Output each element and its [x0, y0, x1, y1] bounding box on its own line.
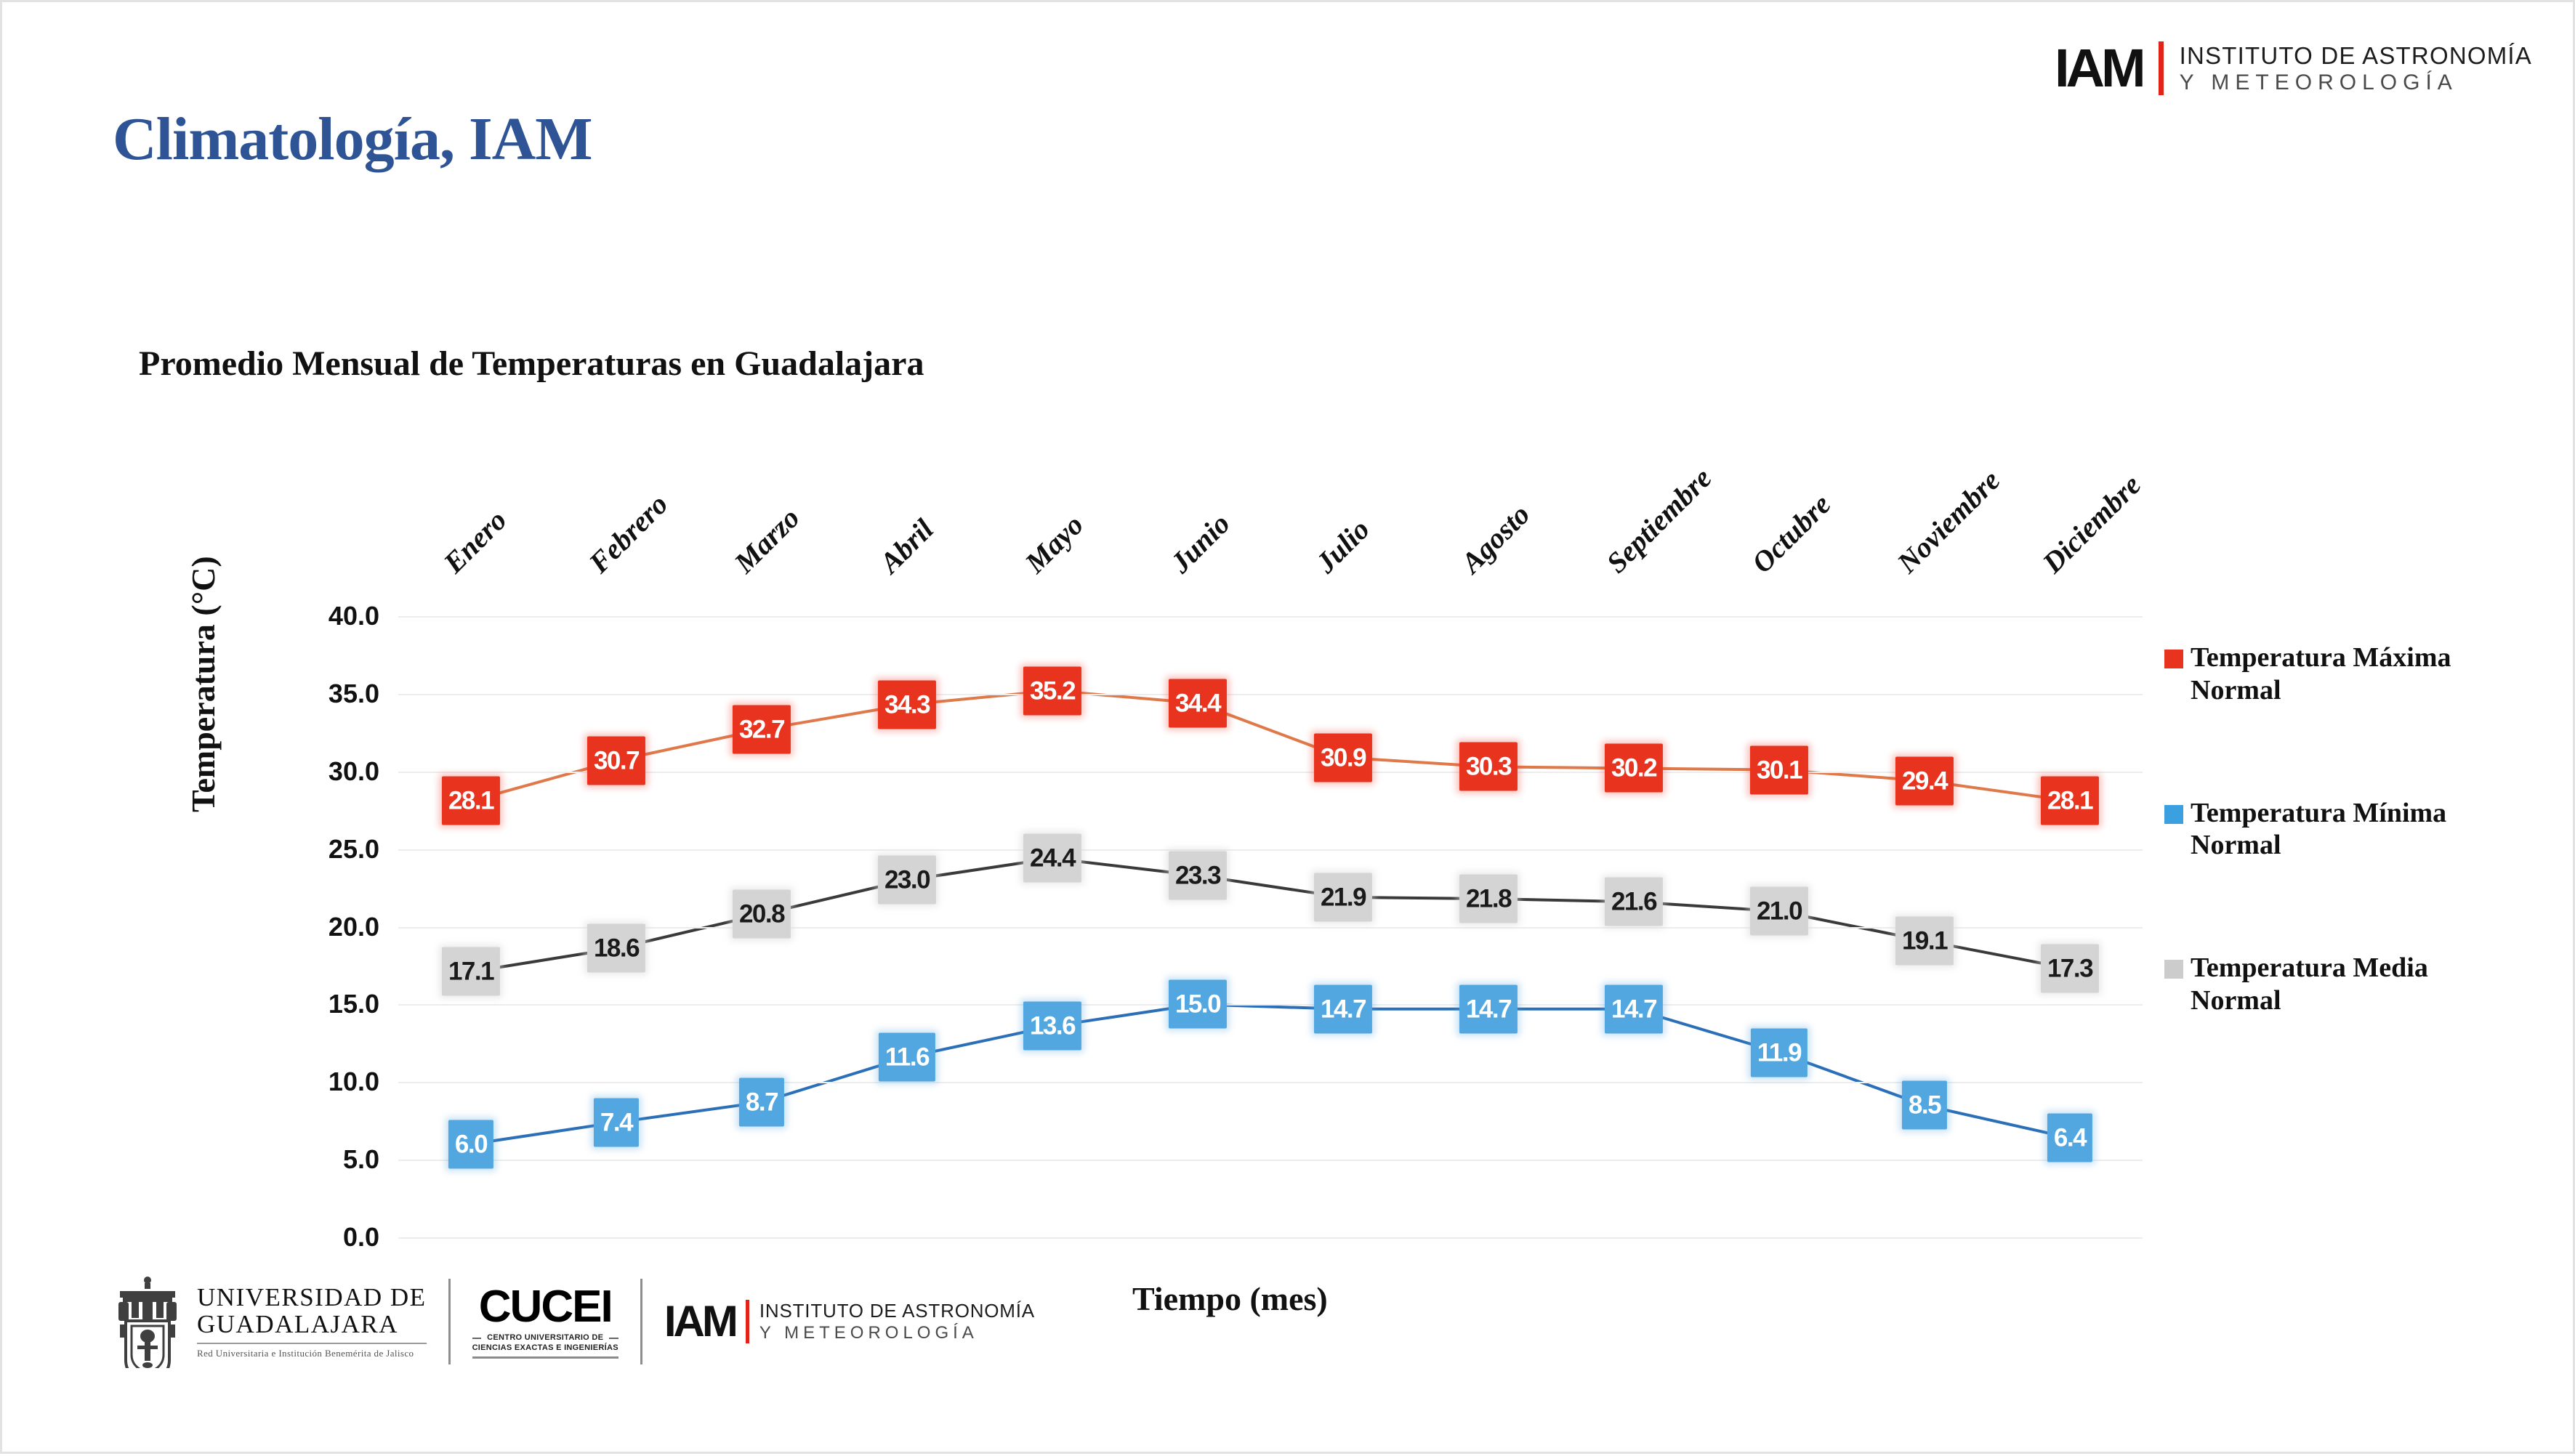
udg-logo: UNIVERSIDAD DE GUADALAJARA Red Universit… [110, 1275, 427, 1368]
y-axis-tick: 0.0 [343, 1222, 379, 1253]
y-axis-tick: 5.0 [343, 1144, 379, 1175]
slide: Climatología, IAM IAM INSTITUTO DE ASTRO… [0, 0, 2575, 1454]
cucei-logo: CUCEI CENTRO UNIVERSITARIO DE CIENCIAS E… [472, 1285, 618, 1359]
data-label: 6.4 [2047, 1114, 2092, 1162]
udg-rule [197, 1343, 427, 1344]
data-label: 30.9 [1314, 733, 1372, 782]
legend-label: Temperatura Media Normal [2191, 952, 2477, 1017]
x-axis-tick: Julio [1309, 512, 1377, 580]
data-label: 11.6 [879, 1033, 935, 1082]
data-label: 21.0 [1750, 887, 1808, 936]
x-axis-tick: Febrero [582, 487, 675, 580]
data-label: 28.1 [2041, 777, 2099, 825]
data-label: 17.3 [2041, 945, 2099, 993]
data-label: 29.4 [1895, 756, 1954, 805]
data-label: 21.8 [1459, 875, 1518, 923]
data-label: 14.7 [1459, 984, 1518, 1033]
legend-swatch-icon [2164, 805, 2183, 824]
data-label: 24.4 [1023, 834, 1081, 883]
cucei-dash-left [472, 1338, 482, 1339]
data-label: 28.1 [442, 777, 500, 825]
x-axis-tick: Mayo [1018, 508, 1090, 580]
udg-line1: UNIVERSIDAD DE [197, 1284, 427, 1311]
cucei-subtitle-row: CENTRO UNIVERSITARIO DE [472, 1333, 618, 1343]
data-label: 20.8 [733, 890, 791, 939]
legend-item[interactable]: Temperatura Media Normal [2164, 952, 2477, 1017]
gridline [398, 772, 2143, 773]
x-axis-tick: Noviembre [1890, 464, 2007, 580]
cucei-sub2: CIENCIAS EXACTAS E INGENIERÍAS [472, 1343, 618, 1354]
plot-area: 0.05.010.015.020.025.030.035.040.0EneroF… [398, 616, 2143, 1237]
udg-line2: GUADALAJARA [197, 1311, 427, 1338]
data-label: 8.7 [739, 1078, 784, 1127]
y-axis-tick: 35.0 [329, 679, 379, 709]
y-axis-tick: 20.0 [329, 912, 379, 942]
gridline [398, 694, 2143, 695]
series-line-min [471, 1004, 2070, 1144]
legend-label: Temperatura Máxima Normal [2191, 642, 2477, 707]
gridline [398, 1004, 2143, 1006]
data-label: 15.0 [1169, 980, 1227, 1029]
x-axis-tick: Septiembre [1600, 461, 1719, 580]
footer-separator-1 [448, 1279, 451, 1364]
data-label: 32.7 [733, 705, 791, 754]
iam-footer-line1: INSTITUTO DE ASTRONOMÍA [759, 1301, 1035, 1320]
series-line-med [471, 858, 2070, 971]
data-label: 23.0 [878, 856, 936, 905]
x-axis-tick: Agosto [1454, 498, 1536, 580]
gridline [398, 616, 2143, 618]
data-label: 8.5 [1902, 1081, 1947, 1130]
data-label: 19.1 [1895, 916, 1954, 965]
x-axis-tick: Abril [873, 512, 940, 580]
y-axis-tick: 10.0 [329, 1067, 379, 1097]
x-axis-tick: Enero [437, 503, 514, 580]
iam-footer-text: INSTITUTO DE ASTRONOMÍA Y METEOROLOGÍA [759, 1301, 1035, 1342]
legend-swatch-icon [2164, 960, 2183, 979]
data-label: 30.1 [1750, 745, 1808, 794]
x-axis-tick: Octubre [1745, 487, 1838, 580]
y-axis-tick: 15.0 [329, 989, 379, 1019]
data-label: 21.9 [1314, 873, 1372, 921]
gridline [398, 1160, 2143, 1161]
iam-footer-divider-bar [746, 1300, 749, 1343]
y-axis-tick: 40.0 [329, 601, 379, 631]
legend-item[interactable]: Temperatura Mínima Normal [2164, 797, 2477, 862]
series-line-max [471, 691, 2070, 801]
legend-item[interactable]: Temperatura Máxima Normal [2164, 642, 2477, 707]
data-label: 30.7 [587, 736, 645, 785]
data-label: 35.2 [1023, 666, 1081, 715]
iam-footer-wordmark: IAM [664, 1302, 736, 1341]
udg-crest-icon [110, 1275, 185, 1368]
data-label: 7.4 [594, 1098, 639, 1146]
udg-text-block: UNIVERSIDAD DE GUADALAJARA Red Universit… [197, 1284, 427, 1359]
x-axis-tick: Diciembre [2036, 468, 2148, 580]
gridline [398, 1237, 2143, 1239]
data-label: 18.6 [587, 924, 645, 973]
data-label: 21.6 [1605, 878, 1663, 926]
data-label: 23.3 [1169, 851, 1227, 899]
data-label: 17.1 [442, 947, 500, 996]
cucei-wordmark: CUCEI [479, 1285, 612, 1330]
data-label: 13.6 [1023, 1002, 1081, 1051]
data-label: 11.9 [1751, 1028, 1808, 1077]
legend-label: Temperatura Mínima Normal [2191, 797, 2477, 862]
data-label: 34.4 [1169, 679, 1227, 727]
gridline [398, 1082, 2143, 1083]
footer-separator-2 [640, 1279, 642, 1364]
data-label: 30.2 [1605, 744, 1663, 793]
udg-line3: Red Universitaria e Institución Beneméri… [197, 1348, 427, 1359]
iam-footer-line2: Y METEOROLOGÍA [759, 1324, 1035, 1342]
chart-legend: Temperatura Máxima NormalTemperatura Mín… [2164, 642, 2477, 1107]
data-label: 14.7 [1605, 984, 1663, 1033]
cucei-dash-right [609, 1338, 618, 1339]
gridline [398, 849, 2143, 851]
cucei-sub1: CENTRO UNIVERSITARIO DE [487, 1333, 603, 1343]
cucei-rule [472, 1356, 618, 1359]
data-label: 30.3 [1459, 743, 1518, 791]
gridline [398, 927, 2143, 929]
y-axis-tick: 25.0 [329, 834, 379, 865]
data-label: 6.0 [448, 1120, 493, 1168]
footer-logos: UNIVERSIDAD DE GUADALAJARA Red Universit… [110, 1275, 1035, 1368]
data-label: 34.3 [878, 680, 936, 729]
y-axis-tick: 30.0 [329, 756, 379, 787]
legend-swatch-icon [2164, 650, 2183, 668]
x-axis-tick: Marzo [728, 501, 807, 580]
data-label: 14.7 [1314, 984, 1372, 1033]
x-axis-tick: Junio [1164, 506, 1237, 580]
iam-logo-footer: IAM INSTITUTO DE ASTRONOMÍA Y METEOROLOG… [664, 1300, 1035, 1343]
